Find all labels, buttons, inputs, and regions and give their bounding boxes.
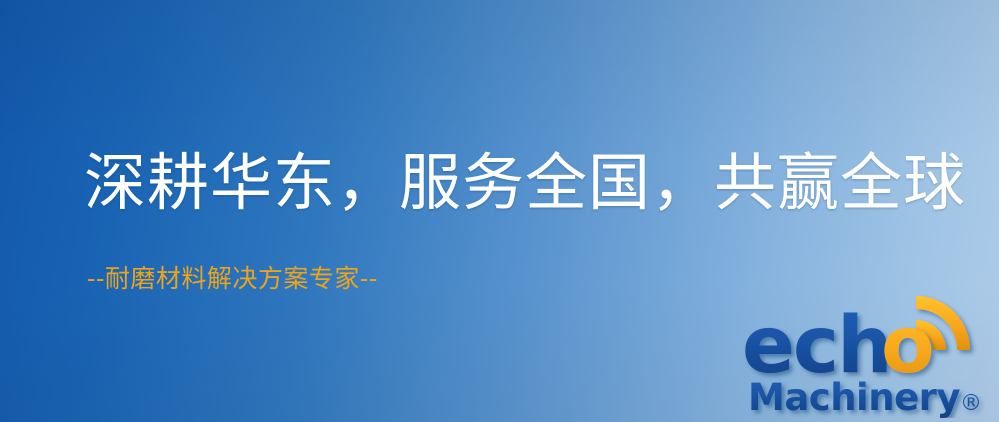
page-title: 深耕华东，服务全国，共赢全球 <box>84 150 966 215</box>
logo-tagline: Machinery <box>748 376 960 418</box>
hero-banner: 深耕华东，服务全国，共赢全球 --耐磨材料解决方案专家-- <box>0 0 999 422</box>
echo-machinery-logo[interactable]: ech o Machinery ® <box>742 288 994 418</box>
banner-subtitle: --耐磨材料解决方案专家-- <box>87 264 378 294</box>
registered-trademark-icon: ® <box>960 391 982 416</box>
